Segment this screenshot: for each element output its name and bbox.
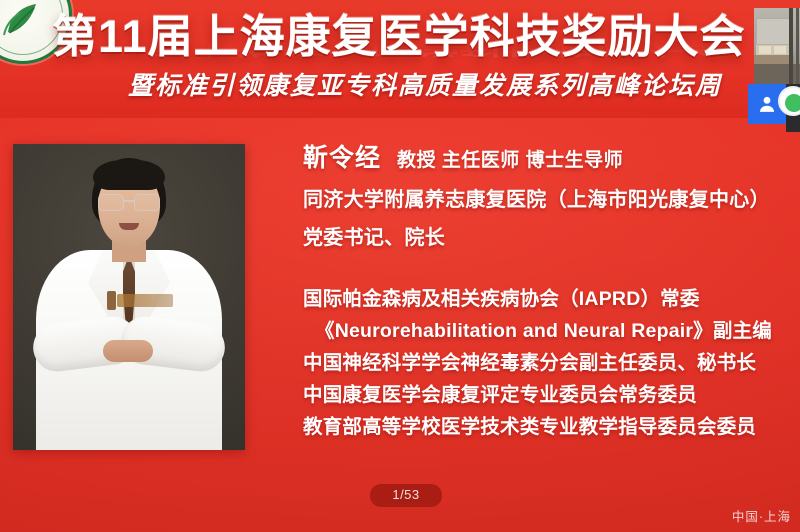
video-pole	[789, 8, 793, 84]
slide-title: 第11届上海康复医学科技奖励大会	[52, 11, 772, 63]
portrait-chest-badge	[117, 294, 173, 307]
slide-subtitle: 暨标准引领康复亚专科高质量发展系列高峰论坛周	[128, 72, 722, 102]
credential-item: 国际帕金森病及相关疾病协会（IAPRD）常委	[303, 283, 793, 315]
credential-item: 中国康复医学会康复评定专业委员会常务委员	[303, 379, 793, 411]
avatar-green-fill	[785, 94, 800, 112]
slide-watermark: 中国·上海	[732, 509, 791, 525]
speaker-portrait-photo	[13, 144, 245, 450]
video-desk	[754, 55, 794, 64]
logo-leaf-glyph	[0, 0, 46, 39]
speaker-name: 靳令经	[303, 138, 381, 174]
video-pole-secondary	[796, 8, 799, 84]
participant-avatar-green[interactable]	[778, 86, 800, 116]
speaker-info-block: 靳令经 教授 主任医师 博士生导师 同济大学附属养志康复医院（上海市阳光康复中心…	[303, 138, 783, 250]
portrait-glasses-icon	[97, 194, 161, 210]
video-cabinet	[756, 18, 792, 46]
credential-item: 《Neurorehabilitation and Neural Repair》副…	[303, 315, 793, 347]
portrait-fringe	[93, 160, 165, 190]
video-floor	[754, 64, 800, 84]
video-box-left	[759, 46, 771, 54]
credential-item: 教育部高等学校医学技术类专业教学指导委员会委员	[303, 411, 793, 443]
speaker-credentials-list: 国际帕金森病及相关疾病协会（IAPRD）常委 《Neurorehabilitat…	[303, 283, 793, 443]
slide-header-band: 第11届上海康复医学科技奖励大会 第11届上海康复医学科技奖励大会 暨标准引领康…	[0, 0, 800, 118]
speaker-titles: 教授 主任医师 博士生导师	[397, 145, 623, 172]
speaker-affiliation: 同济大学附属养志康复医院（上海市阳光康复中心）	[303, 183, 783, 212]
video-box-right	[774, 46, 786, 54]
credential-item: 中国神经科学学会神经毒素分会副主任委员、秘书长	[303, 347, 793, 379]
person-icon	[757, 93, 777, 115]
page-indicator: 1/53	[370, 484, 442, 507]
speaker-name-row: 靳令经 教授 主任医师 博士生导师	[303, 138, 783, 174]
portrait-hands	[103, 340, 153, 362]
participant-video-tile[interactable]	[754, 8, 800, 84]
speaker-role: 党委书记、院长	[303, 221, 783, 250]
participant-tiles-strip[interactable]	[754, 0, 800, 132]
screen-share-viewport: 第11届上海康复医学科技奖励大会 第11届上海康复医学科技奖励大会 暨标准引领康…	[0, 0, 800, 532]
